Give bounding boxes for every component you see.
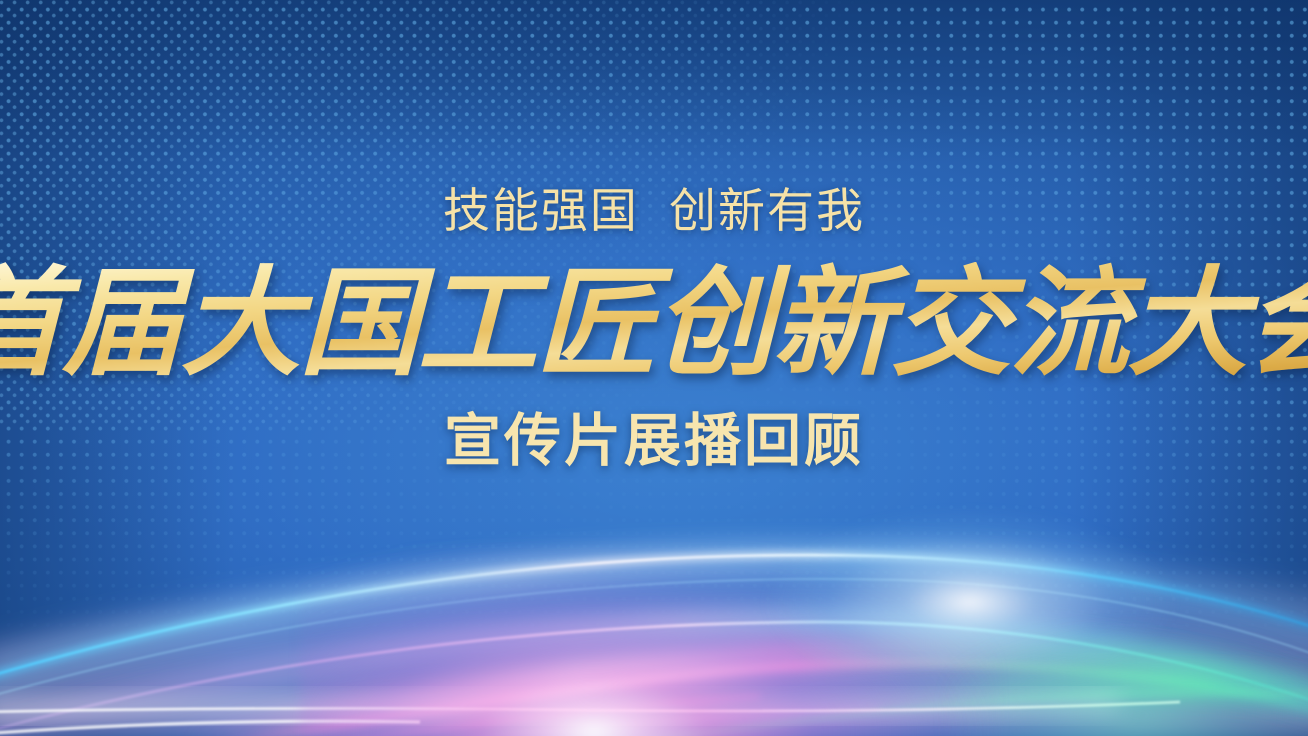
light-ribbon-group	[0, 496, 1308, 736]
light-ribbon-svg	[0, 496, 1308, 736]
dot-matrix-texture-secondary	[0, 0, 1308, 430]
poster-canvas: 技能强国 创新有我 首届大国工匠创新交流大会 宣传片展播回顾	[0, 0, 1308, 736]
